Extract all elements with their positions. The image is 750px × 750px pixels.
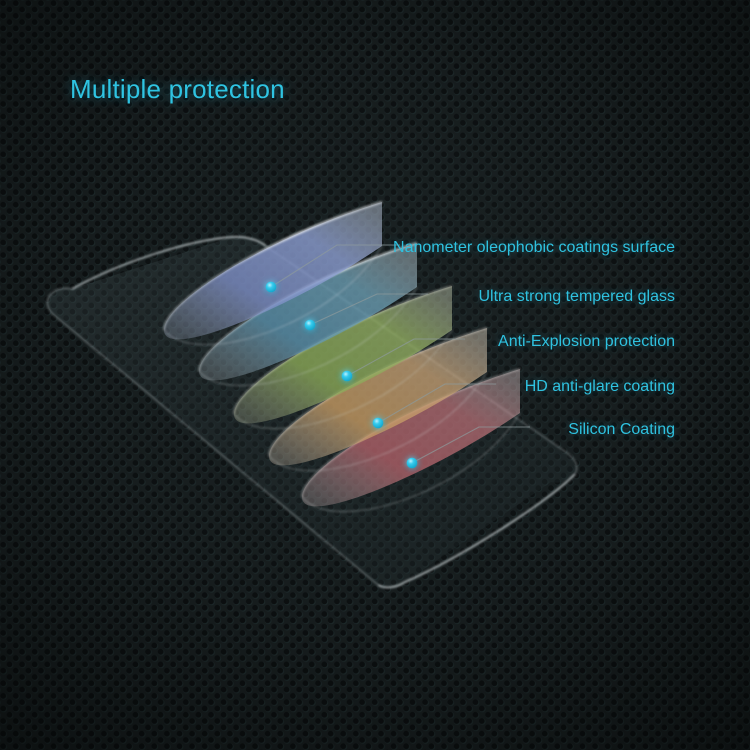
infographic-canvas: Multiple protection <box>0 0 750 750</box>
marker-dot-4 <box>373 418 384 429</box>
glass-layers-artwork <box>0 0 750 750</box>
callout-label-3: Anti-Explosion protection <box>498 333 675 351</box>
marker-dot-2 <box>305 320 316 331</box>
callout-label-4: HD anti-glare coating <box>525 378 675 396</box>
callout-label-2: Ultra strong tempered glass <box>478 288 675 306</box>
callout-label-5: Silicon Coating <box>568 421 675 439</box>
marker-dot-1 <box>266 282 277 293</box>
marker-dot-3 <box>342 371 353 382</box>
marker-dot-5 <box>407 458 418 469</box>
callout-label-1: Nanometer oleophobic coatings surface <box>393 239 675 257</box>
